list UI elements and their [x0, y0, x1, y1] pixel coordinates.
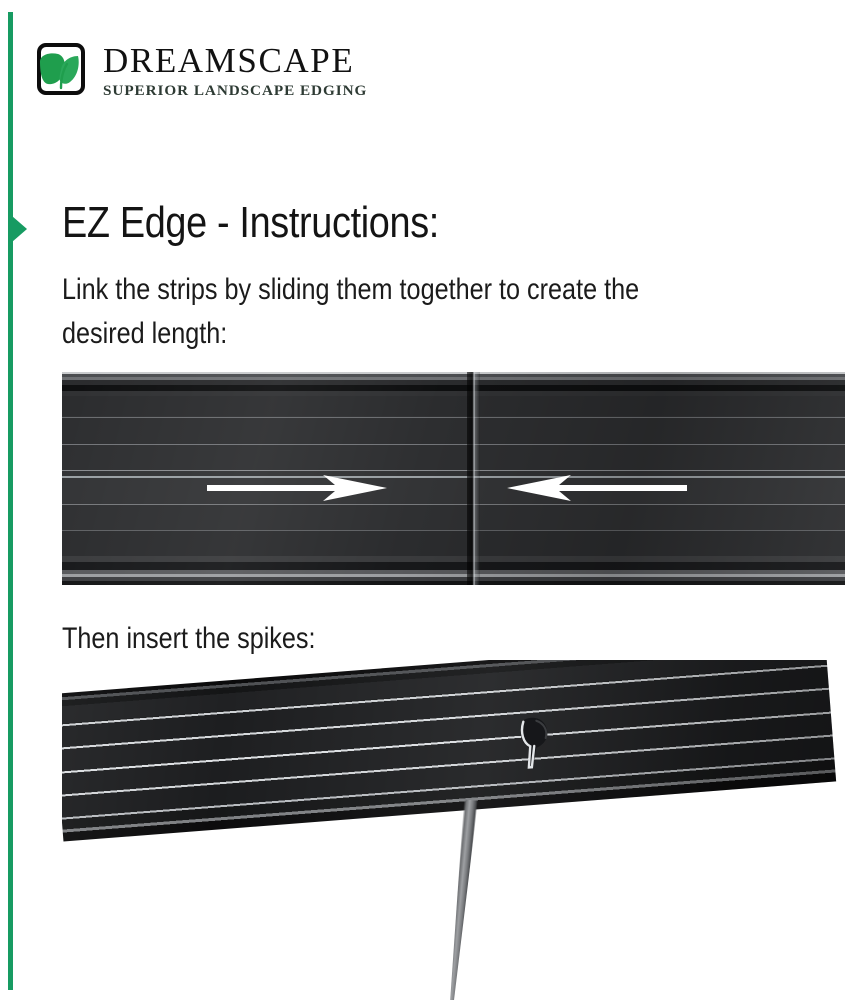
left-accent-rail — [8, 12, 13, 990]
two-leaves-in-rounded-square-icon — [31, 40, 93, 102]
triangle-right-icon — [12, 216, 27, 242]
edging-strip-surface-angled — [62, 660, 836, 842]
metal-spike — [444, 799, 478, 1000]
brand-name: DREAMSCAPE — [103, 43, 367, 78]
brand-tagline: SUPERIOR LANDSCAPE EDGING — [103, 83, 367, 98]
strip-highlight-overlay — [62, 372, 845, 585]
page-title: EZ Edge - Instructions: — [62, 200, 439, 246]
step-1-instruction: Link the strips by sliding them together… — [62, 268, 639, 356]
spike-hole — [512, 714, 556, 773]
step-1-line-2: desired length: — [62, 312, 639, 356]
strip-highlight-overlay — [62, 660, 836, 842]
figure-strip-with-spike — [62, 660, 845, 1000]
figure-two-strips-sliding-together — [62, 372, 845, 585]
step-2-instruction: Then insert the spikes: — [62, 617, 316, 661]
strip-seam — [467, 372, 480, 585]
arrow-right-icon — [207, 475, 387, 501]
step-1-line-1: Link the strips by sliding them together… — [62, 268, 639, 312]
brand-header: DREAMSCAPE SUPERIOR LANDSCAPE EDGING — [31, 40, 367, 102]
arrow-left-icon — [507, 475, 687, 501]
